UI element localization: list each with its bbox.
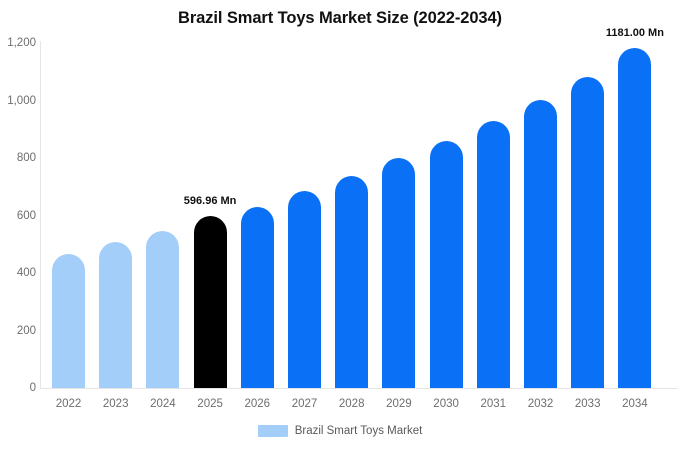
bar-2031[interactable] bbox=[477, 121, 510, 388]
bar-2024[interactable] bbox=[146, 231, 179, 388]
y-axis-tick-labels: 02004006008001,0001,200 bbox=[0, 0, 36, 450]
x-axis-line bbox=[40, 388, 678, 389]
bar-rect bbox=[52, 254, 85, 388]
bar-2025[interactable] bbox=[194, 216, 227, 388]
bar-2033[interactable] bbox=[571, 77, 604, 388]
y-axis-tick: 1,200 bbox=[2, 37, 36, 49]
bar-rect bbox=[618, 48, 651, 388]
bar-2029[interactable] bbox=[382, 158, 415, 388]
bar-2034[interactable] bbox=[618, 48, 651, 388]
bar-2026[interactable] bbox=[241, 207, 274, 388]
bar-2022[interactable] bbox=[52, 254, 85, 388]
y-axis-tick: 1,000 bbox=[2, 95, 36, 107]
bar-chart: Brazil Smart Toys Market Size (2022-2034… bbox=[0, 0, 680, 450]
legend-swatch-icon bbox=[258, 425, 288, 437]
legend-label: Brazil Smart Toys Market bbox=[295, 425, 423, 437]
bar-rect bbox=[524, 100, 557, 388]
data-label-2034: 1181.00 Mn bbox=[602, 27, 668, 39]
bar-rect bbox=[146, 231, 179, 388]
bar-2028[interactable] bbox=[335, 176, 368, 388]
bar-rect bbox=[430, 141, 463, 388]
y-axis-tick: 0 bbox=[2, 382, 36, 394]
y-axis-tick: 600 bbox=[2, 210, 36, 222]
bar-rect bbox=[99, 242, 132, 388]
bar-2023[interactable] bbox=[99, 242, 132, 388]
data-label-2025: 596.96 Mn bbox=[177, 195, 243, 207]
bar-rect bbox=[382, 158, 415, 388]
bar-rect bbox=[241, 207, 274, 388]
bar-rect bbox=[335, 176, 368, 388]
bar-2030[interactable] bbox=[430, 141, 463, 388]
bar-rect bbox=[571, 77, 604, 388]
bar-rect bbox=[194, 216, 227, 388]
bar-2027[interactable] bbox=[288, 191, 321, 388]
y-axis-tick: 800 bbox=[2, 152, 36, 164]
x-axis-tick-2034: 2034 bbox=[605, 398, 665, 410]
chart-legend: Brazil Smart Toys Market bbox=[0, 425, 680, 437]
bar-rect bbox=[477, 121, 510, 388]
plot-area bbox=[40, 43, 680, 388]
bar-rect bbox=[288, 191, 321, 388]
bar-2032[interactable] bbox=[524, 100, 557, 388]
y-axis-tick: 400 bbox=[2, 267, 36, 279]
chart-title: Brazil Smart Toys Market Size (2022-2034… bbox=[0, 9, 680, 28]
y-axis-tick: 200 bbox=[2, 325, 36, 337]
